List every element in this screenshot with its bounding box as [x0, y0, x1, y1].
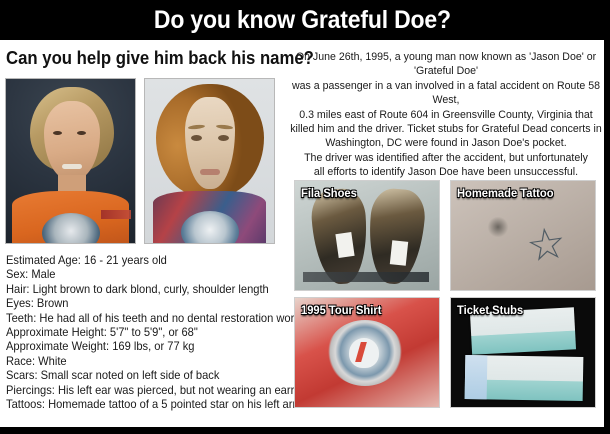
skin-smudge	[487, 217, 509, 237]
narrative-line: killed him and the driver. Ticket stubs …	[290, 122, 602, 136]
portrait-row	[5, 78, 275, 244]
fact-hair: Hair: Light brown to dark blond, curly, …	[6, 283, 273, 297]
fact-sex: Sex: Male	[6, 268, 273, 282]
evidence-photo-homemade-tattoo: ☆ Homemade Tattoo	[450, 180, 596, 291]
five-pointed-star-icon: ☆	[524, 222, 574, 272]
evidence-photo-tour-shirt: 1995 Tour Shirt	[294, 297, 440, 408]
right-column: On June 26th, 1995, a young man now know…	[288, 40, 604, 420]
left-column: Can you help give him back his name?	[0, 40, 288, 420]
fact-eyes: Eyes: Brown	[6, 297, 273, 311]
tie-dye-shirt	[153, 191, 266, 244]
fact-piercings: Piercings: His left ear was pierced, but…	[6, 384, 273, 398]
fact-height: Approximate Height: 5'7" to 5'9", or 68"	[6, 326, 273, 340]
page-title: Do you know Grateful Doe?	[154, 6, 451, 35]
evidence-caption-tour-shirt: 1995 Tour Shirt	[301, 303, 381, 317]
evidence-caption-fila-shoes: Fila Shoes	[301, 186, 357, 200]
fact-estimated-age: Estimated Age: 16 - 21 years old	[6, 254, 273, 268]
evidence-tag	[335, 232, 354, 258]
narrative-line: all efforts to identify Jason Doe have b…	[290, 165, 602, 179]
narrative-line: was a passenger in a van involved in a f…	[290, 79, 602, 108]
right-eye	[77, 131, 86, 135]
fact-weight: Approximate Weight: 169 lbs, or 77 kg	[6, 340, 273, 354]
face-shape	[44, 101, 100, 181]
evidence-caption-ticket-stubs: Ticket Stubs	[457, 303, 523, 317]
fact-teeth: Teeth: He had all of his teeth and no de…	[6, 312, 273, 326]
mouth	[62, 164, 82, 169]
photograph-of-victim	[5, 78, 136, 244]
missing-person-poster: Do you know Grateful Doe? Can you help g…	[0, 0, 610, 434]
table-edge	[303, 272, 429, 282]
left-subheading: Can you help give him back his name?	[6, 48, 314, 69]
forensic-reconstruction	[144, 78, 275, 244]
physical-description-list: Estimated Age: 16 - 21 years old Sex: Ma…	[6, 254, 284, 412]
evidence-tag	[390, 240, 408, 266]
evidence-photo-fila-shoes: Fila Shoes	[294, 180, 440, 291]
mouth	[200, 169, 220, 175]
narrative-line: On June 26th, 1995, a young man now know…	[290, 50, 602, 79]
narrative-line: Washington, DC were found in Jason Doe's…	[290, 136, 602, 150]
poster-header-bar: Do you know Grateful Doe?	[0, 0, 604, 40]
left-eye	[191, 135, 202, 141]
evidence-caption-homemade-tattoo: Homemade Tattoo	[457, 186, 554, 200]
case-narrative: On June 26th, 1995, a young man now know…	[290, 50, 602, 180]
right-eye	[218, 135, 229, 141]
narrative-line: 0.3 miles east of Route 604 in Greensvil…	[290, 108, 602, 122]
watermark-mark	[101, 210, 131, 219]
ticket-stub-lower	[465, 355, 584, 401]
narrative-line: The driver was identified after the acci…	[290, 151, 602, 165]
left-eye	[53, 131, 62, 135]
evidence-photo-ticket-stubs: Ticket Stubs	[450, 297, 596, 408]
evidence-photo-grid: Fila Shoes ☆ Homemade Tattoo 1995 Tour S…	[294, 180, 596, 408]
fact-race: Race: White	[6, 355, 273, 369]
fact-tattoos: Tattoos: Homemade tattoo of a 5 pointed …	[6, 398, 273, 412]
fact-scars: Scars: Small scar noted on left side of …	[6, 369, 273, 383]
